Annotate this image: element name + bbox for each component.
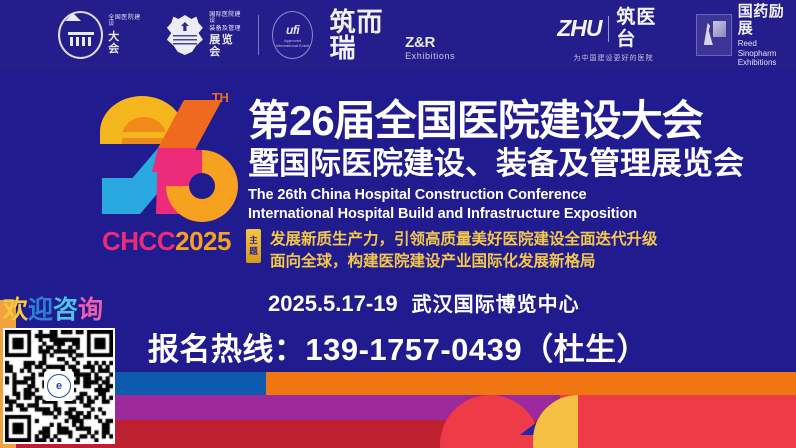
logo-national-conference-seal: 全国医院建设 大 会 bbox=[58, 11, 145, 59]
qr-center-logo: e bbox=[44, 371, 74, 401]
snowflake-icon bbox=[163, 13, 204, 57]
logo-reed-sinopharm: 国药励展 Reed Sinopharm Exhibitions bbox=[696, 3, 796, 67]
consult-char4: 询 bbox=[78, 298, 103, 323]
ufi-sub2: International Event bbox=[276, 43, 309, 48]
title-chinese-line2: 暨国际医院建设、装备及管理展览会 bbox=[248, 148, 744, 179]
shape-red-rectangle bbox=[560, 395, 796, 448]
emblem-acronym-letters: CHCC bbox=[102, 226, 175, 256]
consult-char3: 咨 bbox=[53, 298, 78, 323]
title-english-line2: International Hospital Build and Infrast… bbox=[248, 205, 637, 224]
logo-ufi-approved: ufi Approved International Event bbox=[272, 11, 314, 59]
emblem-acronym-year: 2025 bbox=[175, 226, 231, 256]
reed-chinese: 国药励展 bbox=[738, 3, 796, 38]
consult-char1: 欢 bbox=[3, 298, 28, 323]
emblem-acronym: CHCC2025 bbox=[102, 226, 231, 257]
seal-icon bbox=[58, 11, 103, 59]
theme-badge-char1: 主 bbox=[249, 235, 258, 246]
title-english: The 26th China Hospital Construction Con… bbox=[248, 186, 637, 224]
reed-english-line2: Exhibitions bbox=[738, 58, 796, 67]
emblem-ordinal-suffix: TH bbox=[212, 90, 228, 105]
seal-label-line2: 大 会 bbox=[108, 31, 145, 55]
registration-hotline: 报名热线：139-1757-0439（杜生） bbox=[0, 324, 796, 369]
partner-logo-strip: 全国医院建设 大 会 国际医院建设 装备及管理 展览会 ufi bbox=[0, 0, 796, 70]
logo-divider bbox=[258, 15, 259, 55]
conference-poster: 全国医院建设 大 会 国际医院建设 装备及管理 展览会 ufi bbox=[0, 0, 796, 448]
zr-chinese: 筑而瑞 bbox=[329, 9, 403, 61]
bottom-color-bands bbox=[0, 372, 796, 448]
theme-line1: 发展新质生产力，引领高质量美好医院建设全面迭代升级 bbox=[270, 229, 658, 251]
zhu-slogan: 为中国建设更好的医院 bbox=[557, 53, 670, 63]
logo-international-expo: 国际医院建设 装备及管理 展览会 bbox=[163, 12, 245, 59]
consult-char2: 迎 bbox=[28, 298, 53, 323]
zr-english-main: Z&R bbox=[405, 35, 455, 50]
ufi-mark: ufi bbox=[286, 23, 299, 37]
reed-english-line1: Reed Sinopharm bbox=[738, 39, 796, 57]
event-date-venue: 2025.5.17-19武汉国际博览中心 bbox=[268, 288, 580, 317]
zr-english-sub: Exhibitions bbox=[405, 52, 455, 61]
band-orange bbox=[266, 372, 796, 395]
consult-heading: 欢迎咨询 bbox=[3, 298, 103, 323]
event-date: 2025.5.17-19 bbox=[268, 291, 398, 316]
reed-mark-icon bbox=[696, 14, 732, 56]
theme-badge: 主 题 bbox=[246, 229, 261, 263]
logo-zr-exhibitions: 筑而瑞 Z&R Exhibitions bbox=[329, 9, 455, 61]
title-english-line1: The 26th China Hospital Construction Con… bbox=[248, 186, 637, 205]
seal-label-line1: 全国医院建设 bbox=[108, 15, 145, 28]
theme-badge-char2: 题 bbox=[249, 246, 258, 257]
logo-zhuyitai: ZHU 筑医台 为中国建设更好的医院 bbox=[557, 7, 670, 64]
event-venue: 武汉国际博览中心 bbox=[412, 294, 580, 316]
anniversary-emblem: TH CHCC2025 bbox=[92, 86, 242, 266]
theme-block: 主 题 发展新质生产力，引领高质量美好医院建设全面迭代升级 面向全球，构建医院建… bbox=[246, 229, 658, 274]
title-chinese-line1: 第26届全国医院建设大会 bbox=[248, 100, 703, 142]
qr-code[interactable]: e bbox=[3, 328, 115, 444]
zhu-chinese: 筑医台 bbox=[616, 7, 669, 51]
expo-label-line2: 装备及管理 bbox=[209, 26, 245, 33]
expo-label-line1: 国际医院建设 bbox=[209, 12, 245, 25]
expo-label-line3: 展览会 bbox=[209, 34, 245, 58]
theme-text: 发展新质生产力，引领高质量美好医院建设全面迭代升级 面向全球，构建医院建设产业国… bbox=[270, 229, 658, 274]
theme-line2: 面向全球，构建医院建设产业国际化发展新格局 bbox=[270, 251, 658, 273]
zhu-letters: ZHU bbox=[557, 15, 601, 42]
emblem-26-graphic bbox=[92, 86, 242, 226]
